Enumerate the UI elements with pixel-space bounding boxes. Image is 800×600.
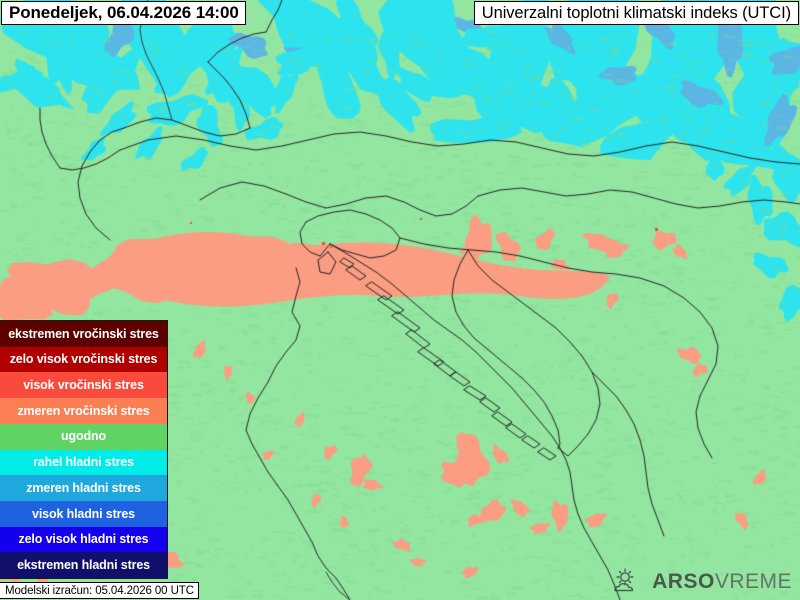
legend-row-label: ekstremen hladni stres [14, 559, 153, 572]
model-run-label: Modelski izračun: 05.04.2026 00 UTC [5, 585, 194, 597]
legend-row-label: zelo visok vročinski stres [7, 353, 161, 366]
product-title-label: Univerzalni toplotni klimatski indeks (U… [482, 4, 791, 23]
legend-row-label: rahel hladni stres [30, 456, 137, 469]
legend-row: ekstremen vročinski stres [0, 321, 167, 347]
legend-row-label: ugodno [58, 430, 109, 443]
sun-cloud-icon [612, 568, 646, 594]
legend-row-label: ekstremen vročinski stres [5, 328, 162, 341]
legend-row: rahel hladni stres [0, 450, 167, 476]
forecast-datetime-header: Ponedeljek, 06.04.2026 14:00 [1, 1, 246, 25]
logo-text-arso: ARSO [652, 570, 715, 593]
legend-row: ekstremen hladni stres [0, 552, 167, 578]
legend-row: ugodno [0, 424, 167, 450]
utci-map-page: Ponedeljek, 06.04.2026 14:00 Univerzalni… [0, 0, 800, 600]
legend-row: visok hladni stres [0, 501, 167, 527]
legend-row-label: zelo visok hladni stres [16, 533, 152, 546]
legend-row: zmeren vročinski stres [0, 398, 167, 424]
logo-text-vreme: VREME [715, 570, 792, 593]
legend-row-label: zmeren vročinski stres [14, 405, 152, 418]
legend-row-label: visok vročinski stres [20, 379, 147, 392]
legend-row: zelo visok vročinski stres [0, 347, 167, 373]
legend-row: visok vročinski stres [0, 372, 167, 398]
arso-vreme-logo[interactable]: ARSOVREME [612, 568, 792, 594]
utci-legend: ekstremen vročinski streszelo visok vroč… [0, 320, 168, 579]
forecast-datetime-label: Ponedeljek, 06.04.2026 14:00 [9, 3, 239, 23]
model-run-footer: Modelski izračun: 05.04.2026 00 UTC [0, 582, 199, 599]
product-title-header: Univerzalni toplotni klimatski indeks (U… [474, 1, 799, 25]
legend-row: zelo visok hladni stres [0, 527, 167, 553]
legend-row-label: zmeren hladni stres [23, 482, 144, 495]
legend-row-label: visok hladni stres [29, 508, 138, 521]
legend-row: zmeren hladni stres [0, 475, 167, 501]
arso-vreme-logo-text: ARSOVREME [652, 571, 792, 592]
